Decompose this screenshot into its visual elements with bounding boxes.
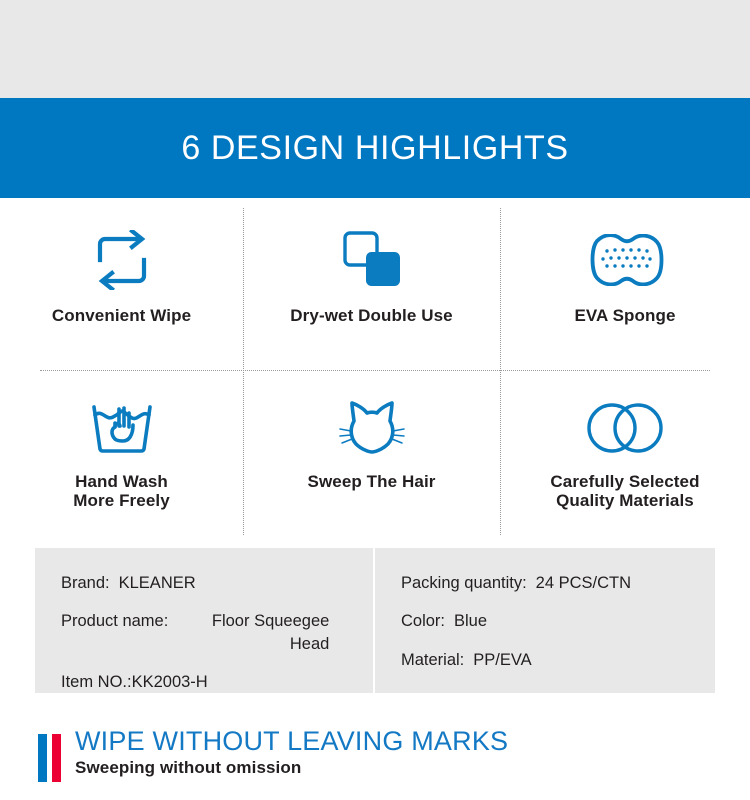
spec-label: Packing quantity:	[401, 572, 527, 594]
footer-text-block: WIPE WITHOUT LEAVING MARKS Sweeping with…	[75, 726, 508, 778]
feature-label: Dry-wet Double Use	[290, 306, 452, 325]
spec-label: Material:	[401, 649, 464, 671]
feature-label: Sweep The Hair	[308, 472, 436, 491]
page-title: 6 DESIGN HIGHLIGHTS	[181, 129, 568, 168]
two-squares-icon	[341, 224, 403, 296]
spec-row-product-name: Product name: Floor Squeegee Head	[61, 610, 373, 655]
spec-row-item-no: Item NO.:KK2003-H	[61, 671, 373, 693]
spec-panel-left: Brand: KLEANER Product name: Floor Squee…	[35, 548, 373, 693]
loop-arrows-icon	[91, 224, 153, 296]
spec-value: Floor Squeegee Head	[177, 610, 329, 655]
cat-head-icon	[336, 392, 408, 464]
spec-value: 24 PCS/CTN	[536, 572, 631, 594]
feature-label: EVA Sponge	[574, 306, 675, 325]
spec-label: Brand:	[61, 572, 110, 594]
feature-cell-convenient-wipe: Convenient Wipe	[0, 198, 243, 370]
feature-cell-dry-wet-double-use: Dry-wet Double Use	[243, 198, 500, 370]
feature-cell-quality-materials: Carefully Selected Quality Materials	[500, 370, 750, 543]
feature-label: Hand Wash More Freely	[73, 472, 170, 510]
spec-label: Item NO.:KK2003-H	[61, 671, 208, 693]
sponge-icon	[585, 224, 665, 296]
accent-bar-red	[52, 734, 61, 782]
footer-headline: WIPE WITHOUT LEAVING MARKS	[75, 726, 508, 757]
feature-cell-sweep-the-hair: Sweep The Hair	[243, 370, 500, 543]
spec-value: Blue	[454, 610, 487, 632]
spec-panel-right: Packing quantity: 24 PCS/CTN Color: Blue…	[375, 548, 715, 693]
overlapping-circles-icon	[586, 392, 664, 464]
accent-bar-blue	[38, 734, 47, 782]
feature-grid: Convenient Wipe Dry-wet Double Use	[0, 198, 750, 543]
spec-value: PP/EVA	[473, 649, 531, 671]
spec-panels: Brand: KLEANER Product name: Floor Squee…	[0, 548, 750, 696]
footer-subtitle: Sweeping without omission	[75, 758, 508, 778]
top-gray-strip	[0, 0, 750, 98]
feature-label: Carefully Selected Quality Materials	[550, 472, 699, 510]
spec-value: KLEANER	[119, 572, 196, 594]
hand-wash-icon	[89, 392, 155, 464]
spec-row-brand: Brand: KLEANER	[61, 572, 373, 594]
feature-cell-eva-sponge: EVA Sponge	[500, 198, 750, 370]
spec-row-color: Color: Blue	[401, 610, 715, 632]
feature-label: Convenient Wipe	[52, 306, 191, 325]
spec-label: Product name:	[61, 610, 168, 632]
footer-tagline: WIPE WITHOUT LEAVING MARKS Sweeping with…	[0, 726, 750, 800]
spec-row-packing-quantity: Packing quantity: 24 PCS/CTN	[401, 572, 715, 594]
spec-label: Color:	[401, 610, 445, 632]
header-banner: 6 DESIGN HIGHLIGHTS	[0, 98, 750, 198]
spec-row-material: Material: PP/EVA	[401, 649, 715, 671]
feature-cell-hand-wash: Hand Wash More Freely	[0, 370, 243, 543]
footer-accent-bars	[38, 734, 61, 782]
